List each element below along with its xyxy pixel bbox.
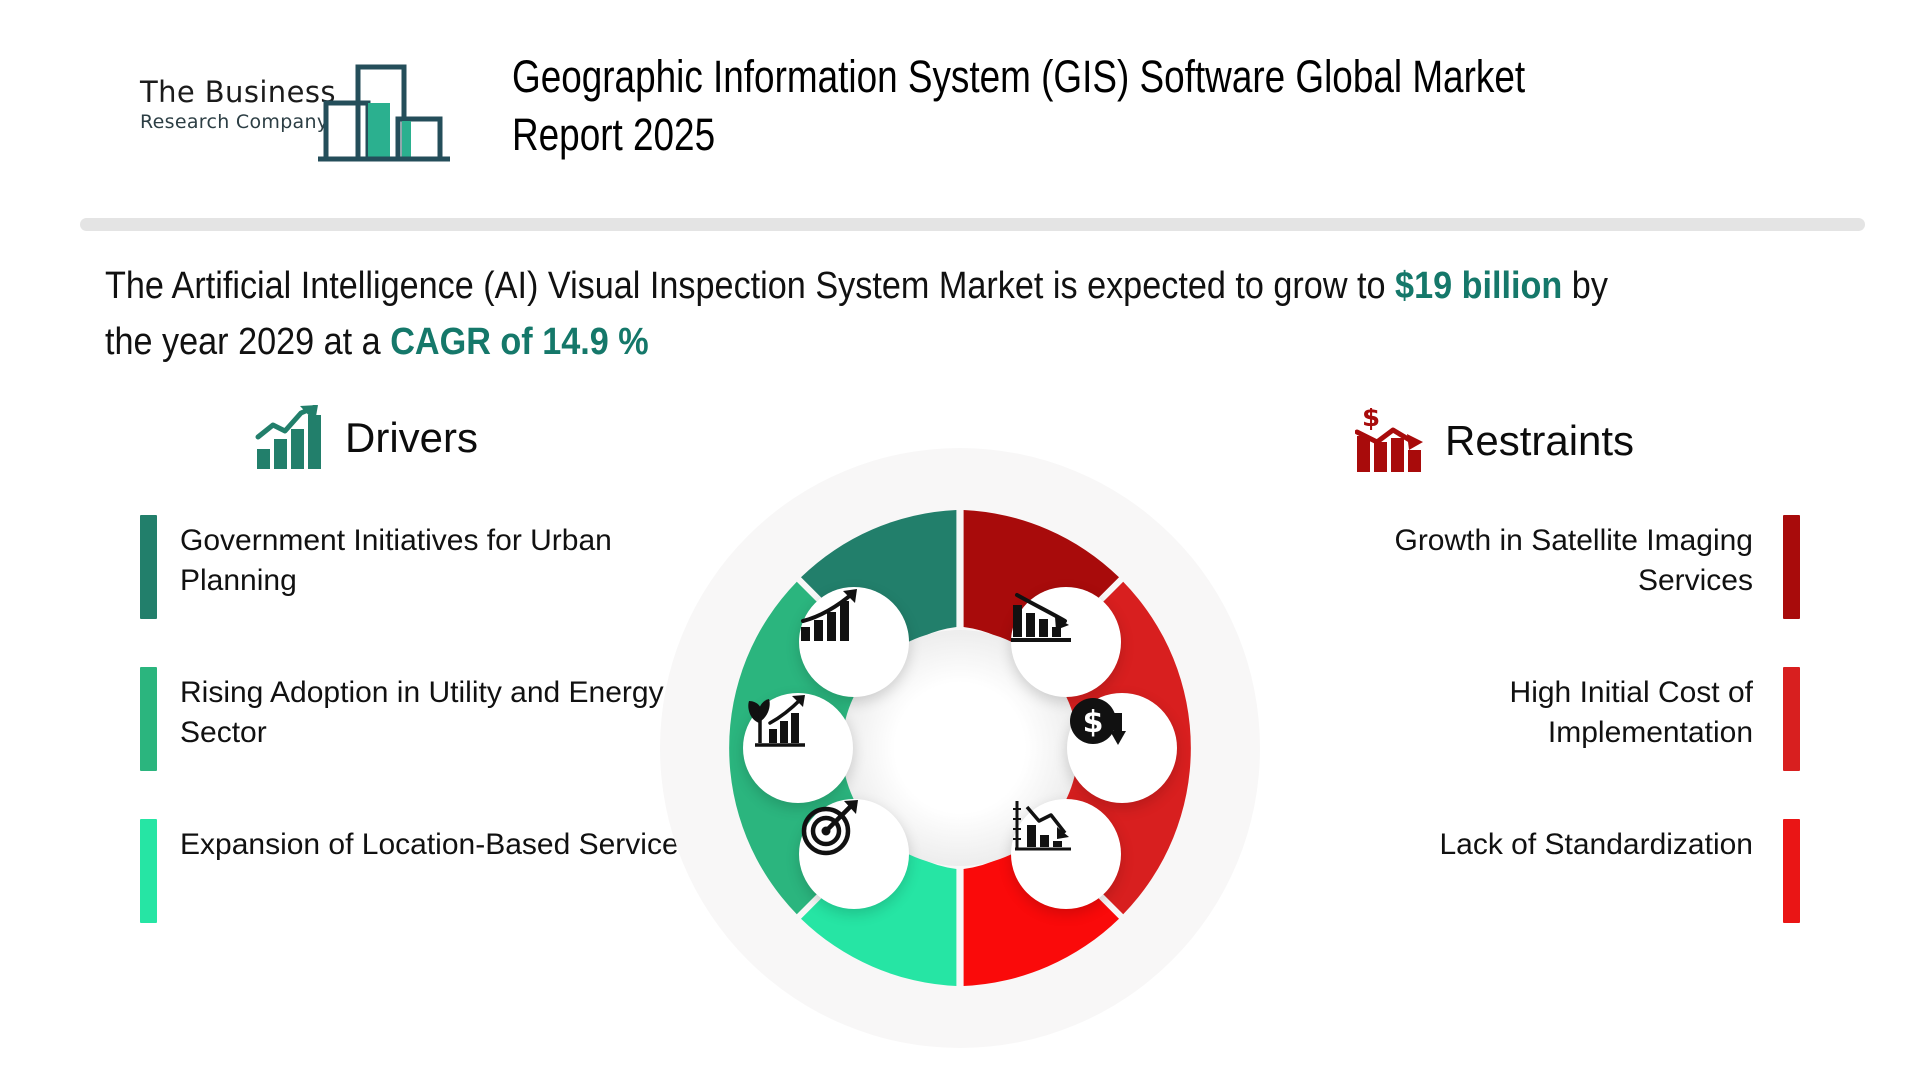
restraints-heading: Restraints <box>1445 417 1634 465</box>
page-title: Geographic Information System (GIS) Soft… <box>512 48 1644 163</box>
market-summary: The Artificial Intelligence (AI) Visual … <box>105 258 1653 370</box>
bar-chart-logo-icon <box>318 55 450 167</box>
drivers-heading: Drivers <box>345 414 478 462</box>
restraint-label: Growth in Satellite Imaging Services <box>1320 515 1783 619</box>
declining-bar-chart-icon-circle[interactable] <box>1011 587 1121 697</box>
declining-line-chart-icon <box>1011 799 1073 857</box>
list-item: Expansion of Location-Based Services <box>140 819 720 923</box>
falling-bar-chart-dollar-icon: $ <box>1355 408 1427 474</box>
list-item: Growth in Satellite Imaging Services <box>1320 515 1800 619</box>
money-down-arrow-icon: $ <box>1067 693 1129 751</box>
driver-accent-bar <box>140 667 157 771</box>
restraints-list: Growth in Satellite Imaging Services Hig… <box>1320 515 1800 971</box>
driver-accent-bar <box>140 819 157 923</box>
restraint-accent-bar <box>1783 515 1800 619</box>
driver-accent-bar <box>140 515 157 619</box>
declining-bar-chart-arrow-icon <box>1011 587 1073 645</box>
target-dart-icon <box>799 799 861 857</box>
logo-line-2: Research Company <box>140 111 340 133</box>
target-dart-icon-circle[interactable] <box>799 799 909 909</box>
drivers-restraints-wheel: $ <box>660 448 1260 1048</box>
logo-text: The Business Research Company <box>140 75 340 133</box>
driver-label: Government Initiatives for Urban Plannin… <box>157 515 720 619</box>
plant-growth-chart-icon <box>743 693 809 751</box>
restraint-label: Lack of Standardization <box>1320 819 1783 923</box>
growth-chart-arrow-icon <box>799 587 861 645</box>
summary-part-1: The Artificial Intelligence (AI) Visual … <box>105 265 1395 307</box>
svg-text:$: $ <box>1362 408 1380 433</box>
rising-bar-chart-arrow-icon <box>255 405 327 471</box>
driver-label: Rising Adoption in Utility and Energy Se… <box>157 667 720 771</box>
page-header: The Business Research Company Geographic… <box>0 0 1920 200</box>
list-item: Government Initiatives for Urban Plannin… <box>140 515 720 619</box>
growth-chart-arrow-icon-circle[interactable] <box>799 587 909 697</box>
header-divider <box>80 218 1865 231</box>
list-item: High Initial Cost of Implementation <box>1320 667 1800 771</box>
restraints-header: $ Restraints <box>1355 408 1634 474</box>
driver-label: Expansion of Location-Based Services <box>157 819 694 923</box>
drivers-header: Drivers <box>255 405 478 471</box>
list-item: Rising Adoption in Utility and Energy Se… <box>140 667 720 771</box>
list-item: Lack of Standardization <box>1320 819 1800 923</box>
cagr-highlight: CAGR of 14.9 % <box>390 321 648 363</box>
market-value-highlight: $19 billion <box>1395 265 1562 307</box>
svg-text:$: $ <box>1083 705 1104 740</box>
declining-line-chart-icon-circle[interactable] <box>1011 799 1121 909</box>
restraint-label: High Initial Cost of Implementation <box>1320 667 1783 771</box>
restraint-accent-bar <box>1783 667 1800 771</box>
logo-line-1: The Business <box>140 75 340 109</box>
restraint-accent-bar <box>1783 819 1800 923</box>
drivers-list: Government Initiatives for Urban Plannin… <box>140 515 720 971</box>
company-logo: The Business Research Company <box>140 55 450 170</box>
money-down-arrow-icon-circle[interactable]: $ <box>1067 693 1177 803</box>
plant-growth-chart-icon-circle[interactable] <box>743 693 853 803</box>
